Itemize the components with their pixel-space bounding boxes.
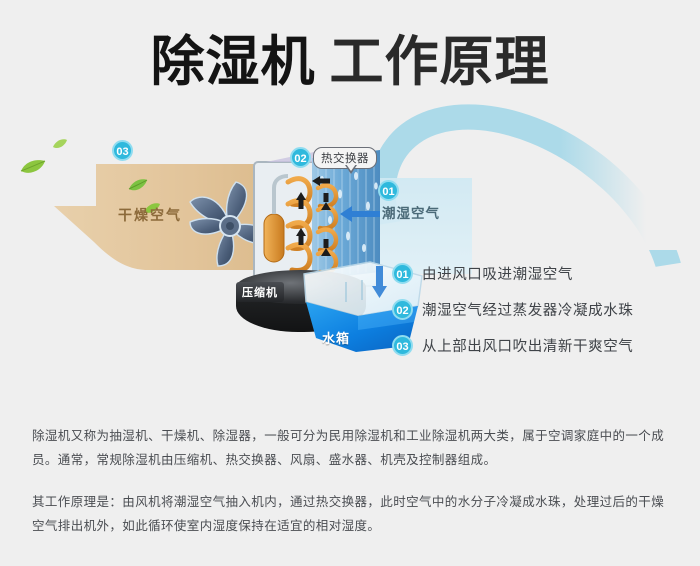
legend-list: 01 由进风口吸进潮湿空气 02 潮湿空气经过蒸发器冷凝成水珠 03 从上部出风…	[392, 255, 692, 363]
leaf-icon	[20, 158, 46, 176]
legend-item: 02 潮湿空气经过蒸发器冷凝成水珠	[392, 291, 692, 327]
legend-item: 03 从上部出风口吹出清新干爽空气	[392, 327, 692, 363]
dry-air-label: 干燥空气	[118, 205, 182, 225]
infographic-page: 除湿机工作原理	[0, 0, 700, 566]
legend-text-02: 潮湿空气经过蒸发器冷凝成水珠	[422, 299, 633, 320]
callout-tail-inner	[346, 164, 356, 171]
water-tank-label: 水箱	[322, 328, 350, 347]
page-title-part2: 工作原理	[330, 32, 550, 92]
page-title-part1: 除湿机	[151, 32, 316, 92]
page-title: 除湿机工作原理	[0, 32, 700, 92]
legend-item: 01 由进风口吸进潮湿空气	[392, 255, 692, 291]
legend-badge-01: 01	[392, 263, 413, 284]
legend-badge-03: 03	[392, 335, 413, 356]
diagram-badge-02: 02	[290, 147, 311, 168]
diagram-badge-03: 03	[112, 140, 133, 161]
compressor-label: 压缩机	[236, 282, 284, 302]
leaf-icon	[52, 138, 68, 150]
legend-text-03: 从上部出风口吹出清新干爽空气	[422, 335, 633, 356]
humid-air-label: 潮湿空气	[382, 202, 440, 222]
diagram-badge-01: 01	[378, 180, 399, 201]
body-copy: 除湿机又称为抽湿机、干燥机、除湿器，一般可分为民用除湿机和工业除湿机两大类，属于…	[32, 424, 672, 538]
paragraph-1: 除湿机又称为抽湿机、干燥机、除湿器，一般可分为民用除湿机和工业除湿机两大类，属于…	[32, 424, 672, 472]
airflow-arc-fade	[560, 130, 680, 250]
legend-text-01: 由进风口吸进潮湿空气	[422, 263, 573, 284]
leaf-icon	[128, 178, 148, 193]
paragraph-2: 其工作原理是：由风机将潮湿空气抽入机内，通过热交换器，此时空气中的水分子冷凝成水…	[32, 490, 672, 538]
legend-badge-02: 02	[392, 299, 413, 320]
